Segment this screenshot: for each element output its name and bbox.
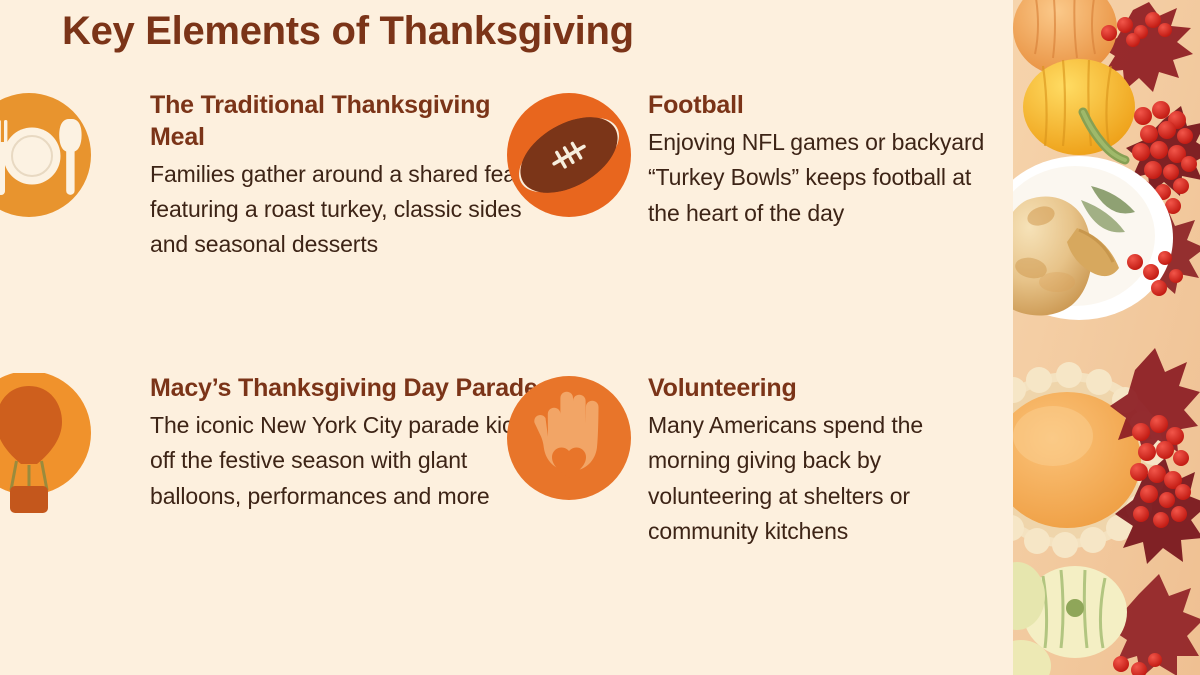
slide-canvas: Key Elements of Thanksgiving xyxy=(0,0,1200,675)
item-body: Enjoving NFL games or backyard “Turkey B… xyxy=(648,125,1008,231)
item-body: Many Americans spend the morning giving … xyxy=(648,408,1008,550)
hot-air-balloon-icon xyxy=(0,373,102,523)
thanksgiving-photo xyxy=(1013,0,1200,675)
page-title: Key Elements of Thanksgiving xyxy=(62,8,634,54)
item-text: The Traditional Thanksgiving Meal Famili… xyxy=(150,90,550,263)
item-text: Volunteering Many Americans spend the mo… xyxy=(648,373,1008,549)
helping-hand-heart-icon xyxy=(504,373,634,523)
plate-fork-knife-icon xyxy=(0,90,102,240)
item-heading: Macy’s Thanksgiving Day Parade xyxy=(150,373,550,405)
item-text: Macy’s Thanksgiving Day Parade The iconi… xyxy=(150,373,550,514)
item-text: Football Enjoving NFL games or backyard … xyxy=(648,90,1008,231)
football-icon xyxy=(504,90,634,240)
item-heading: Volunteering xyxy=(648,373,1008,405)
item-heading: The Traditional Thanksgiving Meal xyxy=(150,90,550,154)
items-grid: The Traditional Thanksgiving Meal Famili… xyxy=(0,90,1013,675)
item-body: The iconic New York City parade kicks of… xyxy=(150,408,550,514)
item-heading: Football xyxy=(648,90,1008,122)
item-body: Families gather around a shared feast fe… xyxy=(150,157,550,263)
